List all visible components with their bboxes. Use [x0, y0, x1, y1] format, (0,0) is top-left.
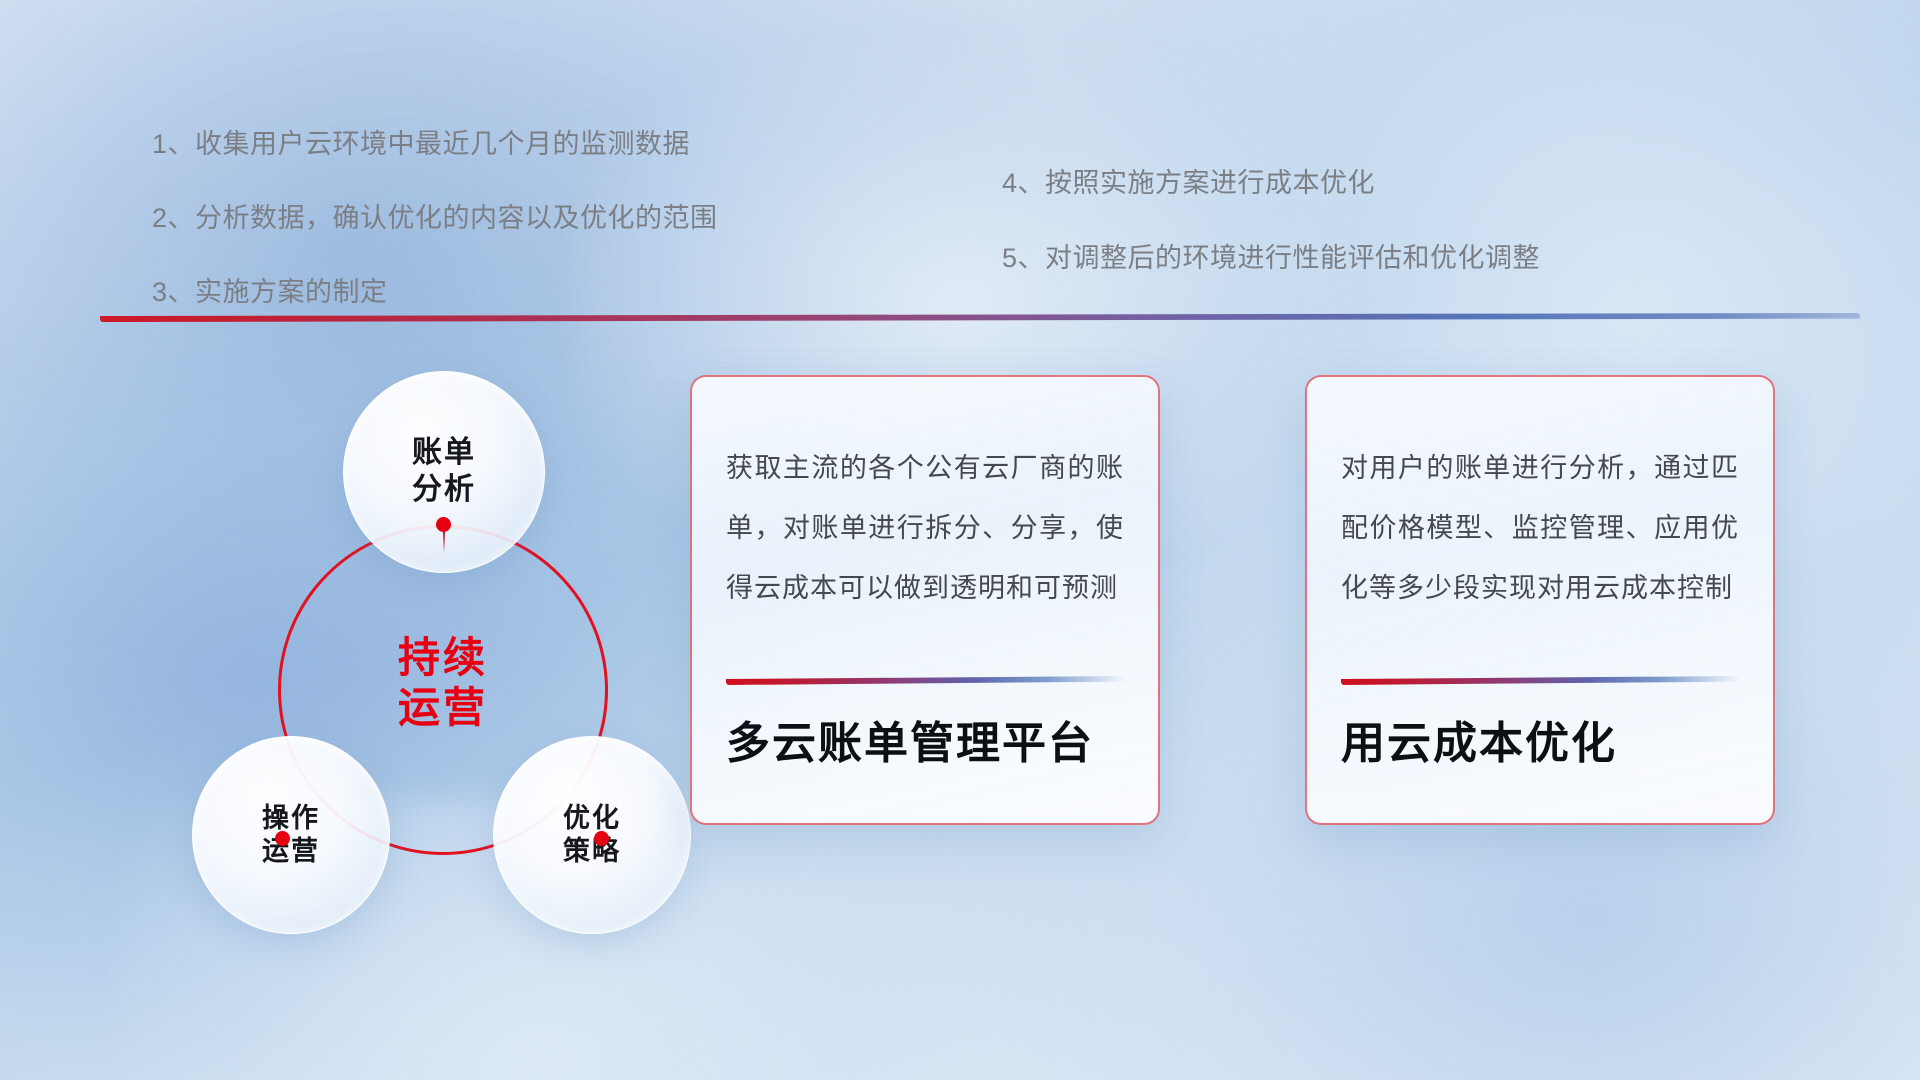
venn-bubble-right-line2: 策略 — [563, 835, 621, 868]
venn-bubble-left-line2: 运营 — [262, 835, 320, 868]
venn-center-label: 持续 运营 — [278, 633, 608, 732]
feature-card-1-divider — [726, 676, 1126, 685]
venn-bubble-operations[interactable]: 操作 运营 — [192, 736, 390, 934]
step-item-2: 2、分析数据，确认优化的内容以及优化的范围 — [152, 196, 718, 235]
feature-card-2-title: 用云成本优化 — [1341, 707, 1741, 771]
venn-bubble-top-line1: 账单 — [412, 435, 476, 472]
step-item-3: 3、实施方案的制定 — [152, 270, 718, 309]
feature-card-cost-optimization[interactable]: 对用户的账单进行分析，通过匹配价格模型、监控管理、应用优化等多少段实现对用云成本… — [1305, 375, 1775, 825]
feature-card-1-body: 获取主流的各个公有云厂商的账单，对账单进行拆分、分享，使得云成本可以做到透明和可… — [726, 439, 1124, 619]
venn-bubble-right-line1: 优化 — [563, 802, 621, 835]
feature-card-1-title: 多云账单管理平台 — [726, 707, 1126, 771]
feature-card-multicloud-billing[interactable]: 获取主流的各个公有云厂商的账单，对账单进行拆分、分享，使得云成本可以做到透明和可… — [690, 375, 1160, 825]
venn-bubble-left-line1: 操作 — [262, 802, 320, 835]
venn-node-dot-right — [594, 831, 609, 846]
venn-bubble-optimization-strategy[interactable]: 优化 策略 — [493, 736, 691, 934]
steps-left-column: 1、收集用户云环境中最近几个月的监测数据 2、分析数据，确认优化的内容以及优化的… — [152, 122, 718, 344]
venn-node-dot-left — [275, 831, 290, 846]
venn-diagram: 持续 运营 账单 分析 操作 运营 优化 策略 — [100, 355, 630, 935]
venn-center-label-line2: 运营 — [278, 683, 608, 733]
feature-card-2-body: 对用户的账单进行分析，通过匹配价格模型、监控管理、应用优化等多少段实现对用云成本… — [1341, 439, 1739, 619]
step-item-4: 4、按照实施方案进行成本优化 — [1002, 161, 1540, 200]
venn-connector-top — [443, 531, 445, 553]
feature-card-2-divider — [1341, 676, 1741, 685]
venn-center-label-line1: 持续 — [278, 633, 608, 683]
venn-bubble-top-line2: 分析 — [412, 472, 476, 509]
step-item-1: 1、收集用户云环境中最近几个月的监测数据 — [152, 122, 718, 161]
step-item-5: 5、对调整后的环境进行性能评估和优化调整 — [1002, 236, 1540, 275]
steps-right-column: 4、按照实施方案进行成本优化 5、对调整后的环境进行性能评估和优化调整 — [1002, 161, 1540, 311]
venn-node-dot-top — [436, 517, 451, 532]
